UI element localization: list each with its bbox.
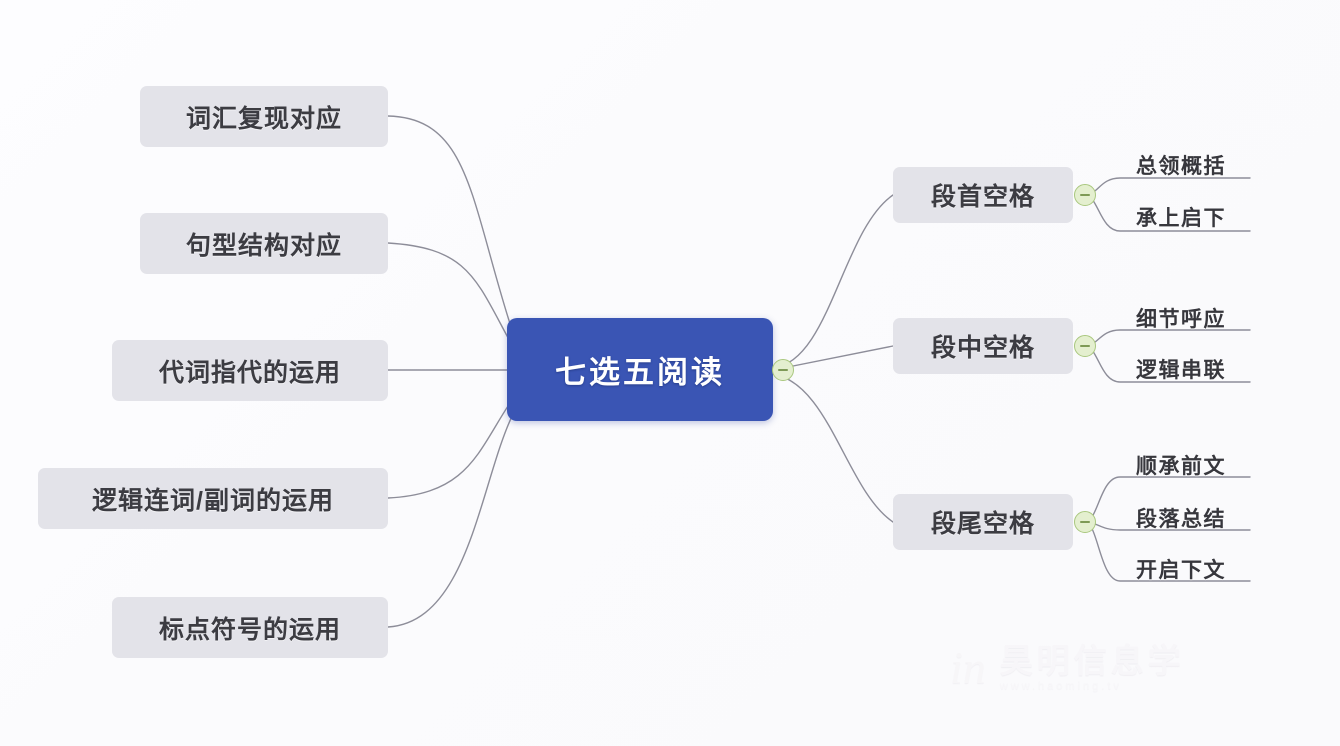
left-node-label: 句型结构对应 bbox=[186, 226, 342, 262]
left-node-label: 标点符号的运用 bbox=[159, 610, 341, 646]
left-node-4[interactable]: 标点符号的运用 bbox=[112, 597, 388, 658]
root-collapse-toggle[interactable] bbox=[772, 359, 794, 381]
collapse-toggle-0[interactable] bbox=[1074, 184, 1096, 206]
watermark-subtitle: www.haoming.tv bbox=[1000, 681, 1185, 692]
leaf-node-1-0[interactable]: 细节呼应 bbox=[1136, 303, 1226, 333]
left-node-0[interactable]: 词汇复现对应 bbox=[140, 86, 388, 147]
leaf-node-2-2[interactable]: 开启下文 bbox=[1136, 554, 1226, 584]
edge-root-to-left-0 bbox=[388, 116, 512, 330]
collapse-toggle-1[interactable] bbox=[1074, 335, 1096, 357]
edge-sub-branch-0 bbox=[1085, 178, 1250, 195]
root-node[interactable]: 七选五阅读 bbox=[507, 318, 773, 421]
watermark-title: 昊明信息学 bbox=[1000, 644, 1185, 677]
root-node-label: 七选五阅读 bbox=[555, 347, 725, 392]
leaf-node-1-1[interactable]: 逻辑串联 bbox=[1136, 354, 1226, 384]
right-node-label: 段中空格 bbox=[931, 328, 1035, 364]
watermark-logo: in bbox=[950, 645, 986, 691]
right-node-1[interactable]: 段中空格 bbox=[893, 318, 1073, 374]
watermark-text-group: 昊明信息学 www.haoming.tv bbox=[1000, 644, 1185, 692]
edge-root-to-left-4 bbox=[388, 412, 514, 627]
watermark: in 昊明信息学 www.haoming.tv bbox=[950, 628, 1280, 708]
left-node-1[interactable]: 句型结构对应 bbox=[140, 213, 388, 274]
left-node-label: 逻辑连词/副词的运用 bbox=[92, 481, 334, 517]
leaf-node-2-0[interactable]: 顺承前文 bbox=[1136, 450, 1226, 480]
collapse-toggle-2[interactable] bbox=[1074, 511, 1096, 533]
mindmap-canvas: 七选五阅读 词汇复现对应句型结构对应代词指代的运用逻辑连词/副词的运用标点符号的… bbox=[0, 0, 1340, 746]
right-node-label: 段首空格 bbox=[931, 177, 1035, 213]
edge-root-to-right-0 bbox=[773, 195, 893, 368]
left-node-2[interactable]: 代词指代的运用 bbox=[112, 340, 388, 401]
right-node-2[interactable]: 段尾空格 bbox=[893, 494, 1073, 550]
left-node-label: 词汇复现对应 bbox=[186, 99, 342, 135]
edge-root-to-left-3 bbox=[388, 400, 512, 498]
right-node-0[interactable]: 段首空格 bbox=[893, 167, 1073, 223]
left-node-3[interactable]: 逻辑连词/副词的运用 bbox=[38, 468, 388, 529]
leaf-node-0-0[interactable]: 总领概括 bbox=[1136, 150, 1226, 180]
leaf-node-2-1[interactable]: 段落总结 bbox=[1136, 503, 1226, 533]
left-node-label: 代词指代的运用 bbox=[159, 353, 341, 389]
leaf-node-0-1[interactable]: 承上启下 bbox=[1136, 202, 1226, 232]
edge-root-to-left-1 bbox=[388, 243, 512, 345]
right-node-label: 段尾空格 bbox=[931, 504, 1035, 540]
edge-root-to-right-2 bbox=[773, 374, 893, 522]
